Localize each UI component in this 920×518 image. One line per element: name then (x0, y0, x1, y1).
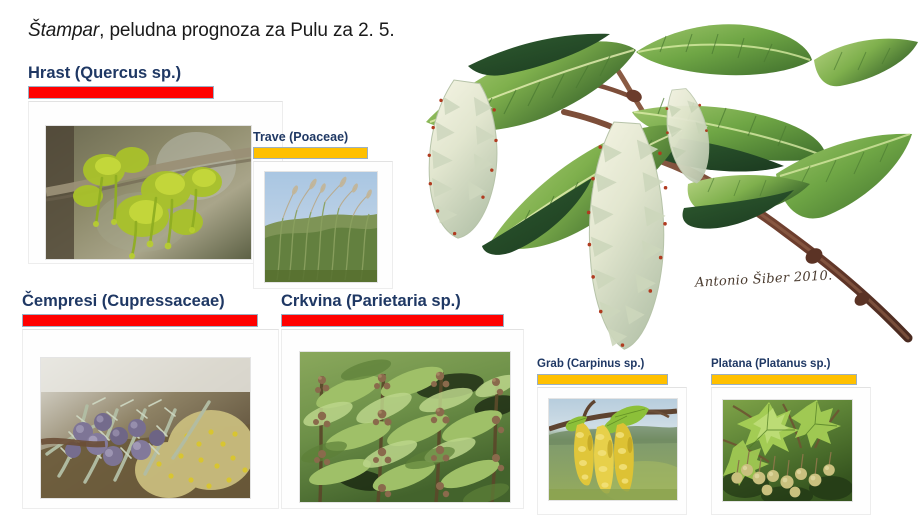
cypress-juniper-photo (41, 358, 250, 498)
pollen-label-hrast: Hrast (Quercus sp.) (28, 64, 283, 83)
pollen-label-crkvina: Crkvina (Parietaria sp.) (281, 292, 524, 311)
pollen-level-bar-crkvina (281, 314, 504, 327)
pollen-level-bar-platana (711, 374, 857, 385)
pollen-card-cempresi: Čempresi (Cupressaceae) (22, 292, 279, 509)
plane-tree-fruit-photo (723, 400, 852, 501)
pollen-level-bar-cempresi (22, 314, 258, 327)
photo-frame-grab (537, 387, 687, 515)
pollen-label-platana: Platana (Platanus sp.) (711, 358, 871, 371)
photo-frame-cempresi (22, 329, 279, 509)
pollen-level-bar-grab (537, 374, 668, 385)
page-title: Štampar, peludna prognoza za Pulu za 2. … (28, 20, 395, 42)
pollen-label-trave: Trave (Poaceae) (253, 130, 393, 144)
title-source: Štampar (28, 20, 99, 41)
parietaria-pellitory-photo (300, 352, 510, 502)
pollen-level-bar-trave (253, 147, 368, 159)
pollen-card-trave: Trave (Poaceae) (253, 130, 393, 289)
pollen-card-crkvina: Crkvina (Parietaria sp.) (281, 292, 524, 509)
pollen-level-bar-hrast (28, 86, 214, 99)
artist-signature: Antonio Šiber 2010. (695, 268, 833, 290)
pollen-label-grab: Grab (Carpinus sp.) (537, 358, 687, 371)
photo-frame-platana (711, 387, 871, 515)
photo-frame-crkvina (281, 329, 524, 509)
photo-frame-trave (253, 161, 393, 289)
hornbeam-catkins-photo (549, 399, 677, 500)
title-rest: , peludna prognoza za Pulu za 2. 5. (99, 20, 394, 41)
pollen-card-platana: Platana (Platanus sp.) (711, 358, 871, 515)
pollen-label-cempresi: Čempresi (Cupressaceae) (22, 292, 279, 311)
grass-meadow-photo (265, 172, 377, 282)
photo-frame-hrast (28, 101, 283, 264)
oak-catkins-photo (46, 126, 251, 259)
pollen-card-hrast: Hrast (Quercus sp.) (28, 64, 283, 264)
pollen-card-grab: Grab (Carpinus sp.) (537, 358, 687, 515)
